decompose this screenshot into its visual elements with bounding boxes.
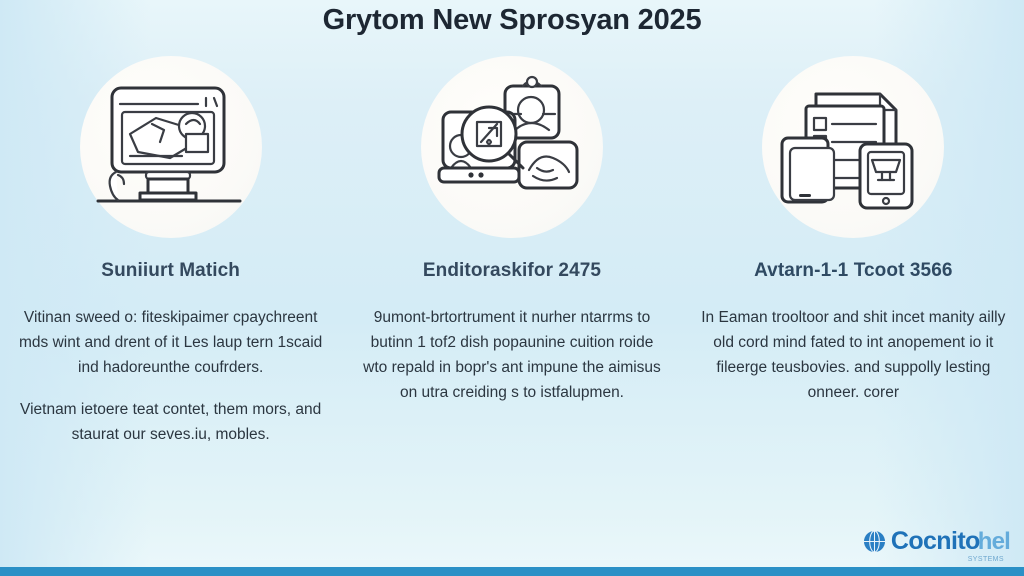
logo-suffix: hel [978, 530, 1010, 554]
columns-container: Suniiurt Matich Vitinan sweed o: fiteski… [0, 56, 1024, 526]
globe-circle-icon [863, 530, 886, 553]
page-title: Grytom New Sprosyan 2025 [0, 4, 1024, 37]
column-2-heading: Enditoraskifor 2475 [423, 260, 601, 283]
logo: Cocnito hel SYSTEMS [863, 529, 1010, 554]
documents-devices-icon [768, 72, 938, 222]
logo-tagline: SYSTEMS [968, 556, 1004, 563]
illustration-circle-2 [421, 56, 603, 238]
column-2-body: 9umont-brtortrument it nurher ntarrms to… [359, 305, 664, 422]
illustration-circle-1 [80, 56, 262, 238]
illustration-circle-3 [762, 56, 944, 238]
column-1-body: Vitinan sweed o: fiteskipaimer cpaychree… [18, 305, 323, 465]
desktop-monitor-icon [86, 72, 256, 222]
slide-canvas: Grytom New Sprosyan 2025 [0, 0, 1024, 576]
laptop-magnifier-icon [427, 72, 597, 222]
column-1-heading: Suniiurt Matich [101, 260, 240, 283]
column-2-paragraph-1: 9umont-brtortrument it nurher ntarrms to… [359, 305, 664, 405]
column-1-paragraph-2: Vietnam ietoere teat contet, them mors, … [18, 397, 323, 447]
column-2: Enditoraskifor 2475 9umont-brtortrument … [341, 56, 682, 526]
column-1: Suniiurt Matich Vitinan sweed o: fiteski… [0, 56, 341, 526]
bottom-accent-bar [0, 567, 1024, 576]
column-3: Avtarn-1-1 Tcoot 3566 In Eaman trooltoor… [683, 56, 1024, 526]
column-3-heading: Avtarn-1-1 Tcoot 3566 [754, 260, 953, 283]
column-3-paragraph-1: In Eaman trooltoor and shit incet manity… [701, 305, 1006, 405]
column-3-body: In Eaman trooltoor and shit incet manity… [701, 305, 1006, 422]
logo-text: Cocnito [891, 529, 980, 554]
column-1-paragraph-1: Vitinan sweed o: fiteskipaimer cpaychree… [18, 305, 323, 380]
